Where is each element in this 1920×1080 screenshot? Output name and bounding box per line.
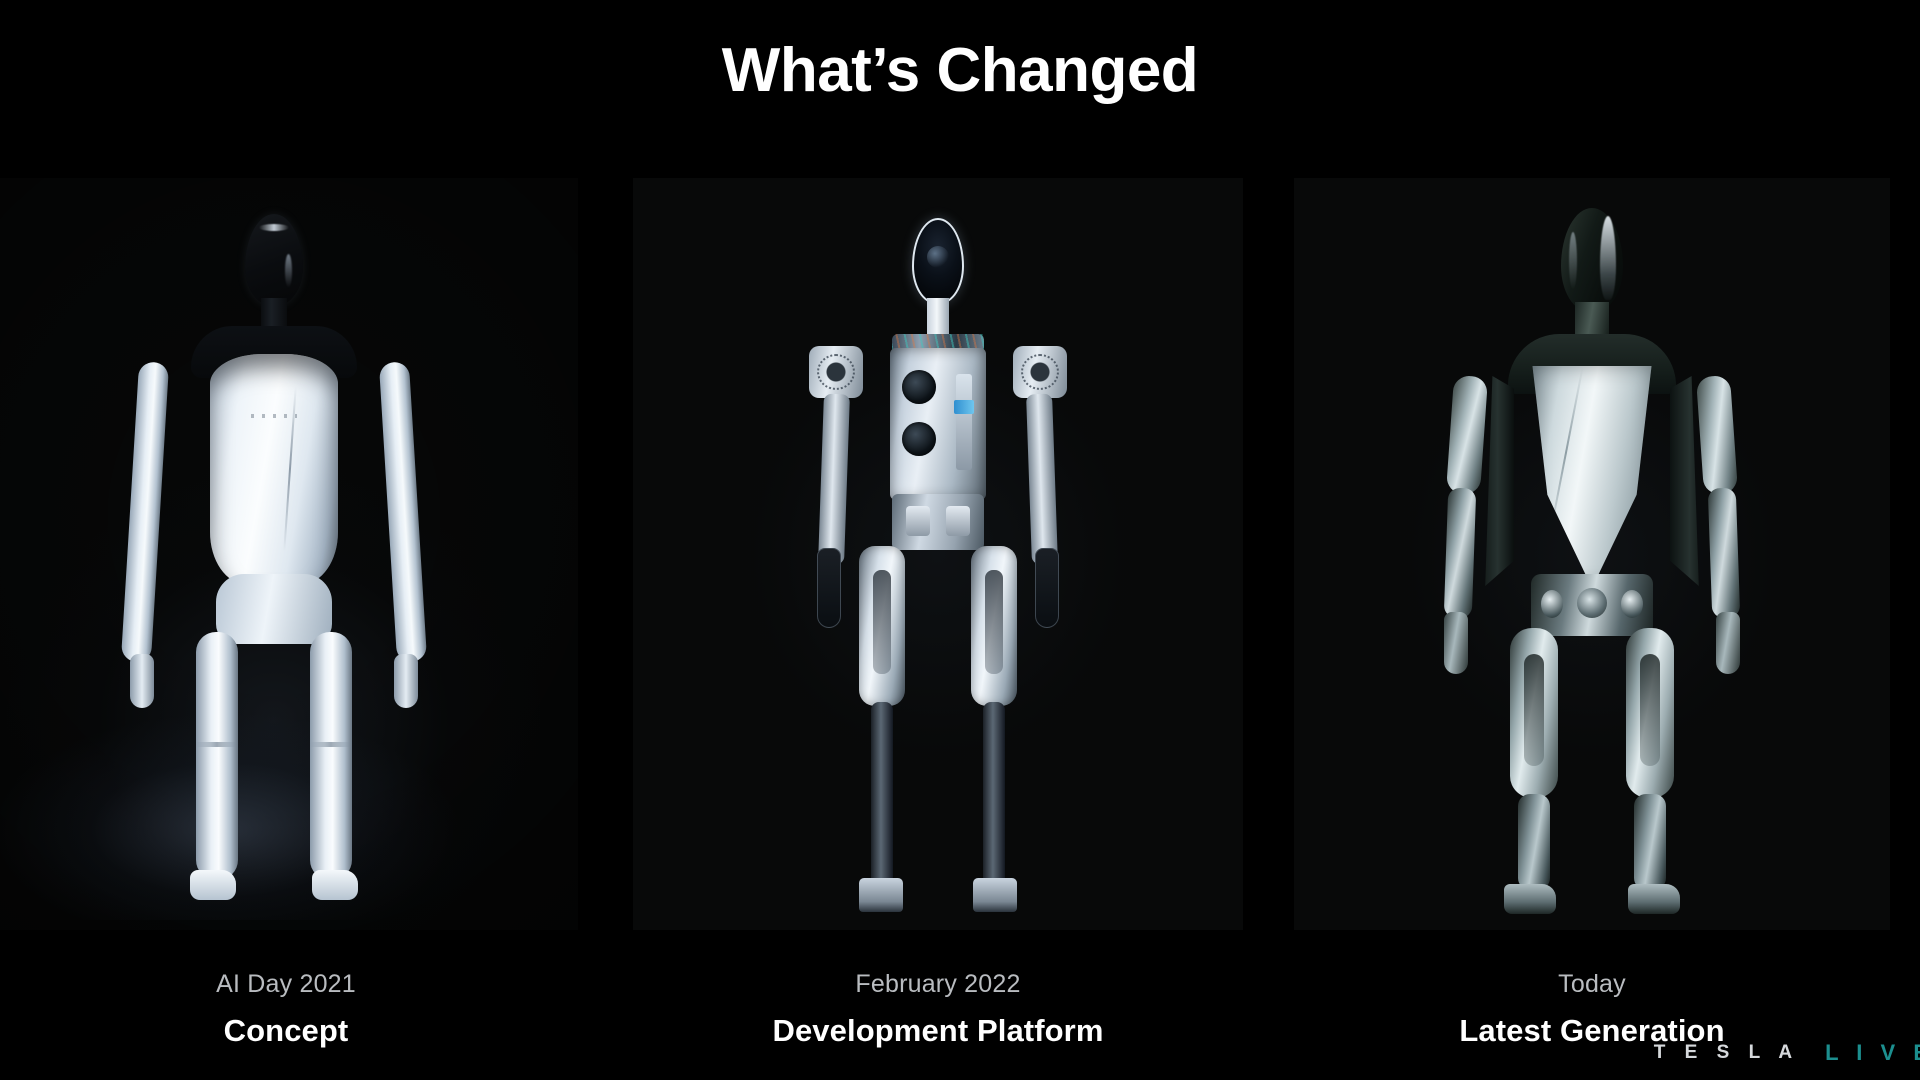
robot-hand-left [130,654,154,708]
robot-thigh-left [1510,628,1558,798]
robot-shoulder-right [1013,346,1067,398]
presentation-slide: What’s Changed [0,0,1920,1080]
robot-head [1561,208,1623,312]
robot-hand-right [1035,548,1059,628]
caption-concept: AI Day 2021 Concept [124,968,448,1050]
robot-shin-right [983,702,1005,886]
robot-leg-right [310,632,352,880]
robot-hand-left [1444,612,1468,674]
robot-shin-left [871,702,893,886]
robot-hand-right [1716,612,1740,674]
robot-head [245,214,303,306]
robot-upper-arm-right [1696,375,1738,495]
robot-foot-left [1504,884,1556,914]
robot-leg-left [196,632,238,880]
robot-chest-plate [1530,366,1654,588]
robot-thigh-right [971,546,1017,706]
robot-shoulder-left [809,346,863,398]
panel-latest-generation [1294,178,1890,930]
broadcast-watermark: T E S L A L I V E [1654,1040,1920,1066]
robot-head [912,218,964,304]
robot-hand-left [817,548,841,628]
caption-date: February 2022 [638,968,1238,1001]
robot-foot-right [1628,884,1680,914]
robot-foot-left [859,878,903,912]
caption-label: Concept [124,1012,448,1051]
robot-arm-left [121,361,169,662]
robot-pelvis [892,494,984,550]
tesla-bot-concept-image [124,214,424,914]
tesla-bot-latest-generation-image [1442,208,1742,918]
robot-upper-arm-left [1446,375,1488,495]
tesla-bot-development-platform-image [793,218,1083,918]
robot-forearm-left [1444,488,1477,619]
robot-shin-left [1518,794,1550,890]
robot-hips [216,574,332,644]
caption-label: Development Platform [638,1012,1238,1051]
panel-concept [0,178,578,930]
robot-chest-assembly [890,348,986,500]
robot-arm-right [379,361,427,662]
robot-hand-right [394,654,418,708]
comparison-panel-row [0,178,1920,930]
panel-development-platform [633,178,1243,930]
robot-arm-right [1026,394,1058,565]
robot-foot-left [190,870,236,900]
caption-development-platform: February 2022 Development Platform [638,968,1238,1050]
robot-shin-right [1634,794,1666,890]
robot-forearm-right [1708,488,1741,619]
page-title: What’s Changed [0,38,1920,103]
caption-date: AI Day 2021 [124,968,448,1001]
caption-date: Today [1290,968,1894,1001]
robot-arm-left [818,394,850,565]
robot-foot-right [973,878,1017,912]
robot-torso [210,354,338,584]
live-badge: L I V E [1825,1040,1920,1066]
caption-latest-generation: Today Latest Generation [1290,968,1894,1050]
tesla-wordmark: T E S L A [1654,1042,1799,1064]
robot-thigh-left [859,546,905,706]
floor-glow [0,620,574,920]
robot-foot-right [312,870,358,900]
robot-thigh-right [1626,628,1674,798]
robot-pelvis [1531,574,1653,636]
